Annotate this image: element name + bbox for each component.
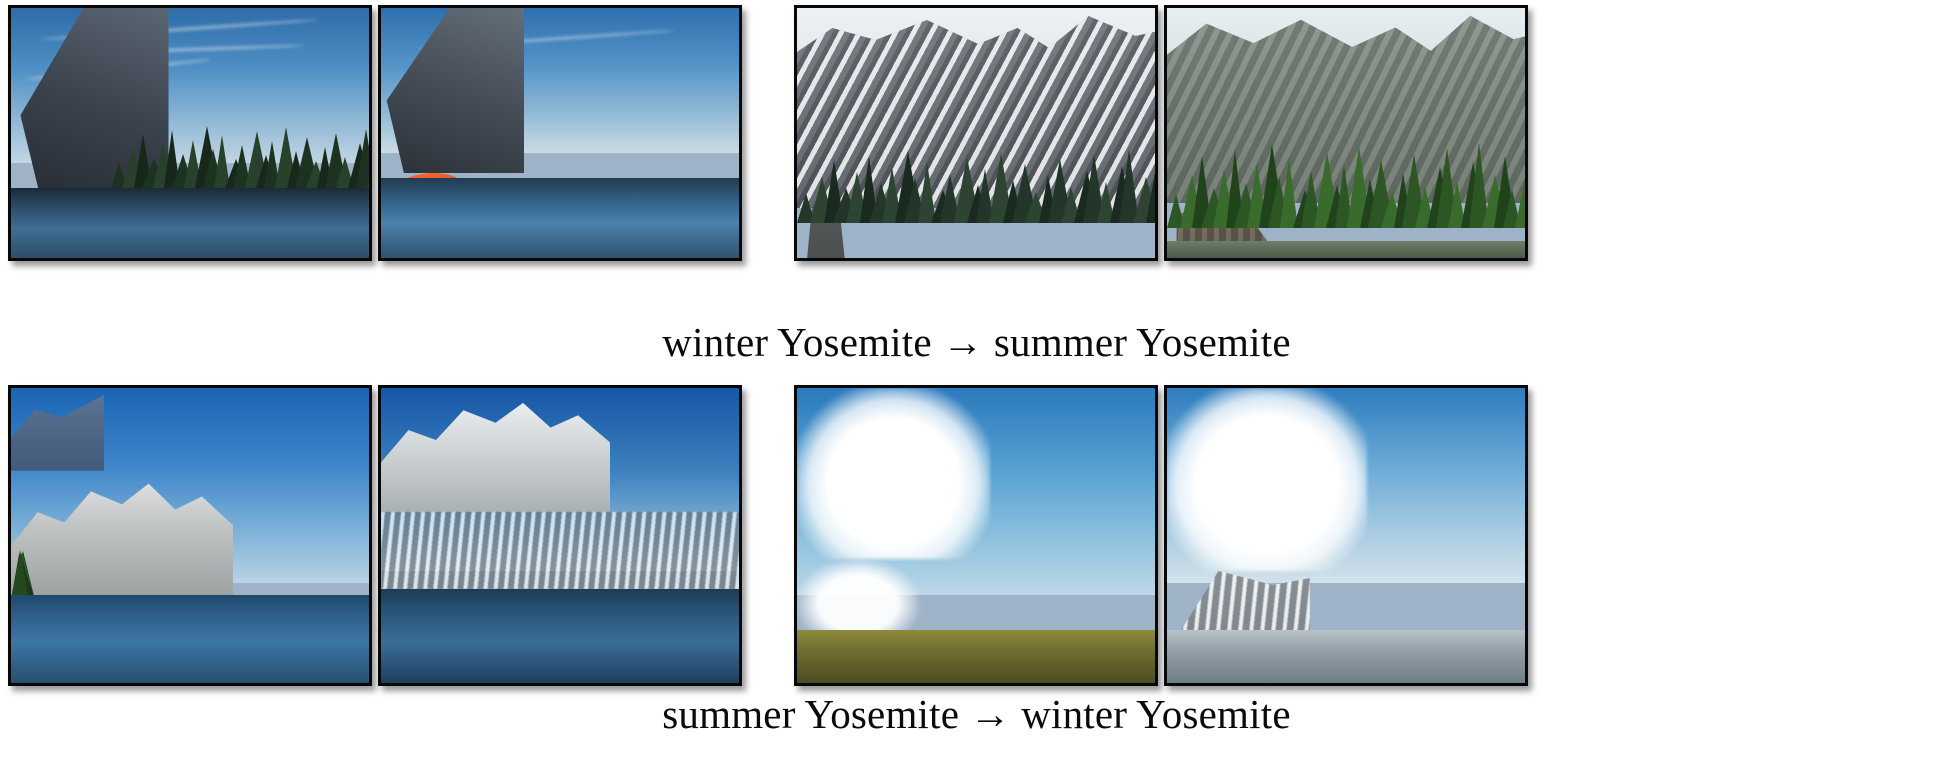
cumulus-cloud	[797, 388, 990, 559]
lake-water	[11, 188, 369, 258]
scene-winter-mirror-lake	[1167, 388, 1525, 683]
panel-1-winter-input[interactable]	[8, 5, 372, 261]
lake-water	[797, 630, 1155, 683]
caption-summer-to-winter: summer Yosemite → winter Yosemite	[0, 694, 1953, 735]
panel-3-winter-input[interactable]	[794, 5, 1158, 261]
scene-summer-falls	[1167, 8, 1525, 258]
panel-5-summer-input[interactable]	[8, 385, 372, 686]
lake-water	[381, 178, 739, 258]
river-water	[381, 589, 739, 683]
water-strip	[1167, 241, 1525, 259]
panel-7-summer-input[interactable]	[794, 385, 1158, 686]
conifer-forest	[797, 158, 1155, 223]
image-pair-4	[794, 385, 1528, 686]
river-water	[11, 595, 369, 684]
caption-winter-to-summer: winter Yosemite → summer Yosemite	[0, 322, 1953, 363]
image-pair-1	[8, 5, 742, 261]
conifer-tree	[11, 550, 29, 600]
scene-winter-halfdome	[11, 8, 369, 258]
scene-winter-valley	[381, 388, 739, 683]
lake-water	[1167, 630, 1525, 683]
panel-4-summer-output[interactable]	[1164, 5, 1528, 261]
scene-summer-valley	[11, 388, 369, 683]
panel-8-winter-output[interactable]	[1164, 385, 1528, 686]
scene-winter-falls	[797, 8, 1155, 258]
image-pair-3	[8, 385, 742, 686]
conifer-forest	[1167, 143, 1525, 228]
results-row-winter-to-summer	[0, 5, 1953, 317]
panel-6-winter-output[interactable]	[378, 385, 742, 686]
results-row-summer-to-winter	[0, 385, 1953, 690]
conifer-tree	[367, 152, 369, 188]
scene-summer-mirror-lake	[797, 388, 1155, 683]
image-pair-2	[794, 5, 1528, 261]
scene-summer-halfdome	[381, 8, 739, 258]
frosted-treeline	[381, 512, 739, 589]
figure-root: winter Yosemite → summer Yosemite	[0, 0, 1953, 774]
conifer-tree	[1515, 170, 1525, 228]
conifer-tree	[1146, 161, 1155, 223]
cumulus-cloud	[1167, 388, 1367, 571]
conifer-treeline	[111, 128, 369, 188]
panel-2-summer-output[interactable]	[378, 5, 742, 261]
